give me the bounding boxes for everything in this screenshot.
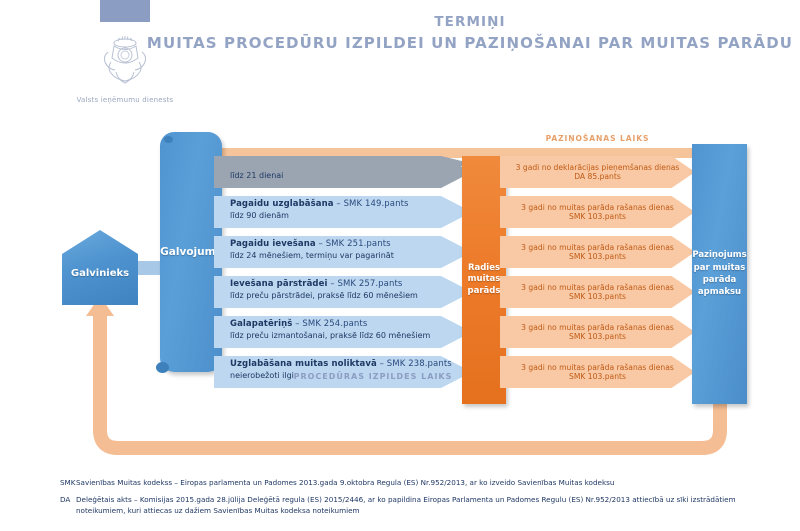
notification-row[interactable]: 3 gadi no muitas parāda rašanas dienas S… (500, 316, 695, 348)
procedure-subtitle: līdz preču izmantošanai, praksē līdz 60 … (230, 331, 472, 340)
transit-gray-arrow (214, 156, 472, 171)
node-guarantee-label: Galvojums (160, 246, 222, 258)
notification-line-1: 3 gadi no muitas parāda rašanas dienas (521, 283, 674, 292)
procedure-title: Galapatēriņš – SMK 254.pants (230, 319, 472, 329)
notification-row[interactable]: 3 gadi no muitas parāda rašanas dienas S… (500, 236, 695, 268)
procedure-row[interactable]: Pagaidu ievešana – SMK 251.pants līdz 24… (214, 236, 472, 268)
notification-line-1: 3 gadi no muitas parāda rašanas dienas (521, 363, 674, 372)
procedure-title: Uzglabāšana muitas noliktavā – SMK 238.p… (230, 359, 472, 369)
node-debt-payment-notice-label: Paziņojums par muitas parāda apmaksu (692, 249, 747, 298)
label-notification-time: PAZIŅOŠANAS LAIKS (500, 134, 695, 143)
notification-line-2: SMK 103.pants (569, 332, 626, 341)
notification-line-1: 3 gadi no muitas parāda rašanas dienas (521, 243, 674, 252)
node-customs-debt-label: Radies muitas parāds (462, 263, 506, 297)
footnote-row: DA Deleģētais akts – Komisijas 2015.gada… (0, 495, 800, 516)
procedure-title: Ievešana pārstrādei – SMK 257.pants (230, 279, 472, 289)
footnote-text: Deleģētais akts – Komisijas 2015.gada 28… (60, 495, 760, 516)
node-guarantee[interactable]: Galvojums (160, 132, 222, 372)
procedure-title: Pagaidu ievešana – SMK 251.pants (230, 239, 472, 249)
procedure-subtitle: līdz preču pārstrādei, praksē līdz 60 mē… (230, 291, 472, 300)
procedure-row[interactable]: Ievešana pārstrādei – SMK 257.pants līdz… (214, 276, 472, 308)
footnotes: SMK Savienības Muitas kodekss – Eiropas … (0, 478, 800, 523)
notification-line-2: SMK 103.pants (569, 292, 626, 301)
node-customs-debt[interactable]: Radies muitas parāds (462, 156, 506, 404)
notification-line-2: SMK 103.pants (569, 212, 626, 221)
guarantee-nub-bottom (156, 362, 169, 373)
footnote-key: DA (0, 495, 60, 516)
title-line-2: MUITAS PROCEDŪRU IZPILDEI UN PAZIŅOŠANAI… (140, 34, 800, 52)
footnote-key: SMK (0, 478, 60, 488)
footnote-row: SMK Savienības Muitas kodekss – Eiropas … (0, 478, 800, 488)
procedure-subtitle: līdz 24 mēnešiem, termiņu var pagarināt (230, 251, 472, 260)
page-header: Valsts ieņēmumu dienests TERMIŅI MUITAS … (0, 0, 800, 100)
notification-line-2: SMK 103.pants (569, 252, 626, 261)
label-procedure-time: PROCEDŪRAS IZPILDES LAIKS (228, 372, 518, 381)
notification-row[interactable]: 3 gadi no muitas parāda rašanas dienas S… (500, 276, 695, 308)
procedure-title: Pagaidu uzglabāšana – SMK 149.pants (230, 199, 472, 209)
notification-row[interactable]: 3 gadi no deklarācijas pieņemšanas diena… (500, 156, 695, 188)
notification-line-2: SMK 103.pants (569, 372, 626, 381)
notification-row[interactable]: 3 gadi no muitas parāda rašanas dienas S… (500, 356, 695, 388)
procedure-row[interactable]: Pagaidu uzglabāšana – SMK 149.pants līdz… (214, 196, 472, 228)
footnote-text: Savienības Muitas kodekss – Eiropas parl… (60, 478, 614, 488)
notification-line-1: 3 gadi no muitas parāda rašanas dienas (521, 203, 674, 212)
node-guarantor-label: Galvinieks (71, 268, 129, 279)
guarantee-nub-top (164, 136, 173, 143)
process-flow-diagram: Galvinieks Galvojums Tranzīts līdz 21 di… (0, 100, 800, 470)
title-line-1: TERMIŅI (140, 14, 800, 30)
procedure-row[interactable]: Galapatēriņš – SMK 254.pants līdz preču … (214, 316, 472, 348)
procedure-subtitle: līdz 21 dienai (230, 171, 472, 180)
node-debt-payment-notice[interactable]: Paziņojums par muitas parāda apmaksu (692, 144, 747, 404)
notification-row[interactable]: 3 gadi no muitas parāda rašanas dienas S… (500, 196, 695, 228)
procedure-subtitle: līdz 90 dienām (230, 211, 472, 220)
notification-line-1: 3 gadi no deklarācijas pieņemšanas diena… (516, 163, 680, 172)
notification-line-2: DA 85.pants (574, 172, 621, 181)
notification-line-1: 3 gadi no muitas parāda rašanas dienas (521, 323, 674, 332)
page-title: TERMIŅI MUITAS PROCEDŪRU IZPILDEI UN PAZ… (140, 14, 800, 52)
